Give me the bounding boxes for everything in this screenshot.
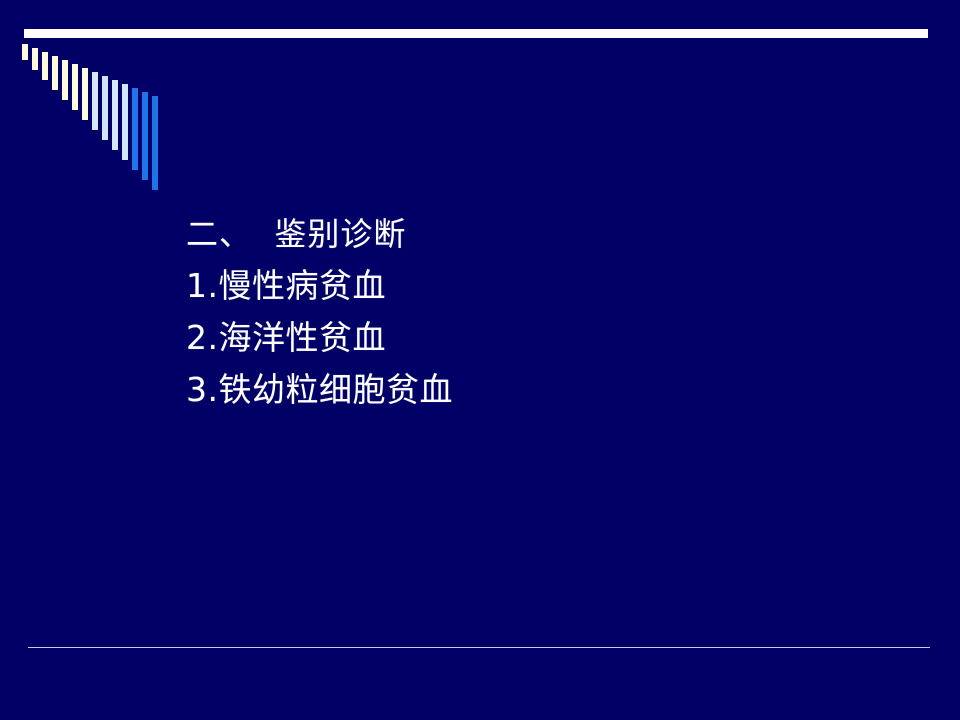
deco-bar [102,76,108,140]
footer-rule [28,647,930,648]
deco-bar [82,68,88,120]
slide-canvas: 二、 鉴别诊断 1.慢性病贫血 2.海洋性贫血 3.铁幼粒细胞贫血 [0,0,960,720]
deco-bar [22,44,28,60]
list-item-3: 3.铁幼粒细胞贫血 [186,364,886,416]
deco-bar [142,92,148,180]
content-block: 二、 鉴别诊断 1.慢性病贫血 2.海洋性贫血 3.铁幼粒细胞贫血 [186,208,886,416]
deco-bar [42,52,48,80]
list-item-2: 2.海洋性贫血 [186,312,886,364]
deco-bar [122,84,128,160]
deco-bar [62,60,68,100]
deco-bar [92,72,98,130]
descending-bar-motif-icon [0,0,200,210]
deco-bar [32,48,38,70]
deco-bar [152,96,158,190]
deco-bar [132,88,138,170]
list-item-1: 1.慢性病贫血 [186,260,886,312]
deco-bar [52,56,58,90]
deco-bar [112,80,118,150]
section-heading: 二、 鉴别诊断 [186,208,886,260]
deco-bar [72,64,78,110]
